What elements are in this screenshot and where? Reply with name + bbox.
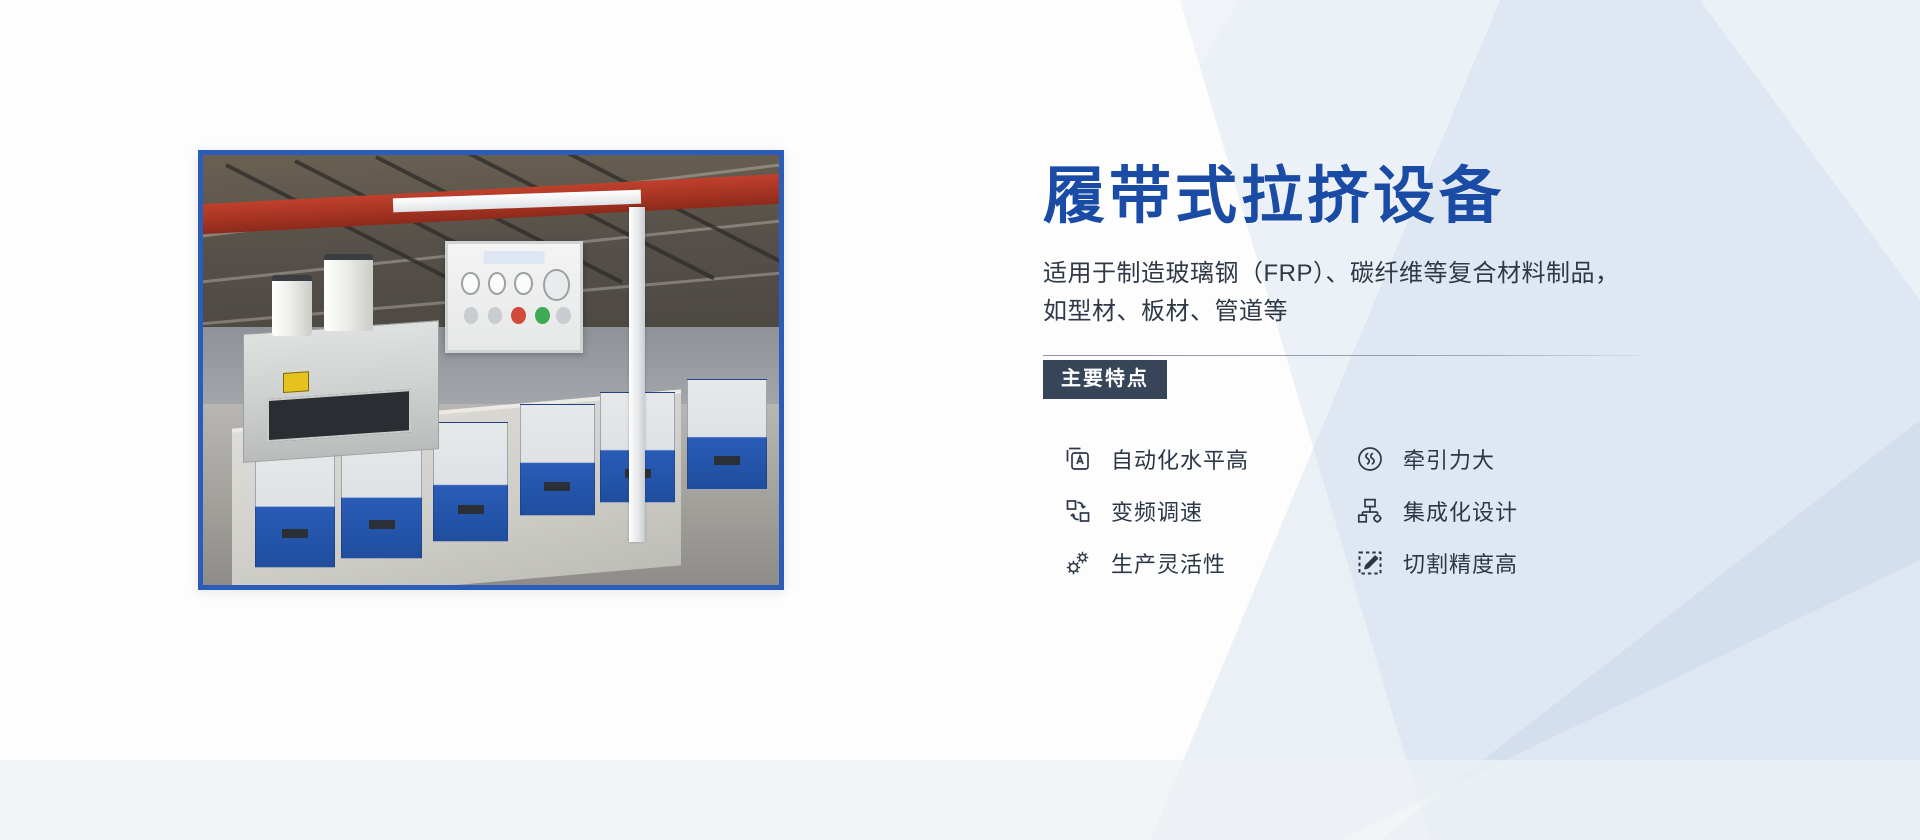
feature-item-integrated[interactable]: 集成化设计 <box>1335 485 1627 537</box>
cut-precision-pen-icon <box>1355 548 1385 578</box>
photo-machine-cabinet <box>433 422 508 542</box>
feature-label: 牵引力大 <box>1403 443 1495 475</box>
feature-label: 变频调速 <box>1111 495 1203 527</box>
photo-gantry-column <box>629 207 645 542</box>
page-subtitle: 适用于制造玻璃钢（FRP）、碳纤维等复合材料制品，如型材、板材、管道等 <box>1043 255 1643 331</box>
photo-resin-tank <box>272 275 312 335</box>
feature-item-flexibility[interactable]: 生产灵活性 <box>1043 537 1335 589</box>
photo-control-panel <box>445 241 583 353</box>
photo-hazard-label <box>283 371 309 393</box>
feature-label: 集成化设计 <box>1403 495 1518 527</box>
automation-square-a-icon <box>1063 444 1093 474</box>
feature-item-frequency[interactable]: 变频调速 <box>1043 485 1335 537</box>
feature-item-traction[interactable]: 牵引力大 <box>1335 433 1627 485</box>
double-gears-icon <box>1063 548 1093 578</box>
feature-item-cut-precision[interactable]: 切割精度高 <box>1335 537 1627 589</box>
feature-label: 切割精度高 <box>1403 547 1518 579</box>
page-title: 履带式拉挤设备 <box>1043 162 1663 231</box>
photo-machine-cabinet <box>520 404 595 516</box>
hero-content: 履带式拉挤设备 适用于制造玻璃钢（FRP）、碳纤维等复合材料制品，如型材、板材、… <box>1043 162 1663 589</box>
feature-label: 生产灵活性 <box>1111 547 1226 579</box>
product-photo-frame <box>198 150 784 590</box>
photo-resin-tank <box>324 254 373 331</box>
traction-wave-circle-icon <box>1355 444 1385 474</box>
feature-label: 自动化水平高 <box>1111 443 1249 475</box>
integrated-hierarchy-gear-icon <box>1355 496 1385 526</box>
photo-press-window <box>268 389 411 442</box>
status-badge: 主要特点 <box>1043 360 1167 399</box>
photo-machine-cabinet <box>687 379 768 491</box>
feature-item-automation[interactable]: 自动化水平高 <box>1043 433 1335 485</box>
section-divider-wrap: 主要特点 <box>1043 355 1663 397</box>
frequency-convert-arrows-icon <box>1063 496 1093 526</box>
photo-panel-brand <box>484 251 545 264</box>
photo-pultrusion-press <box>243 320 439 463</box>
product-hero-banner: 履带式拉挤设备 适用于制造玻璃钢（FRP）、碳纤维等复合材料制品，如型材、板材、… <box>0 0 1920 840</box>
divider <box>1043 355 1643 356</box>
feature-list: 自动化水平高 牵引力大 <box>1043 433 1663 589</box>
